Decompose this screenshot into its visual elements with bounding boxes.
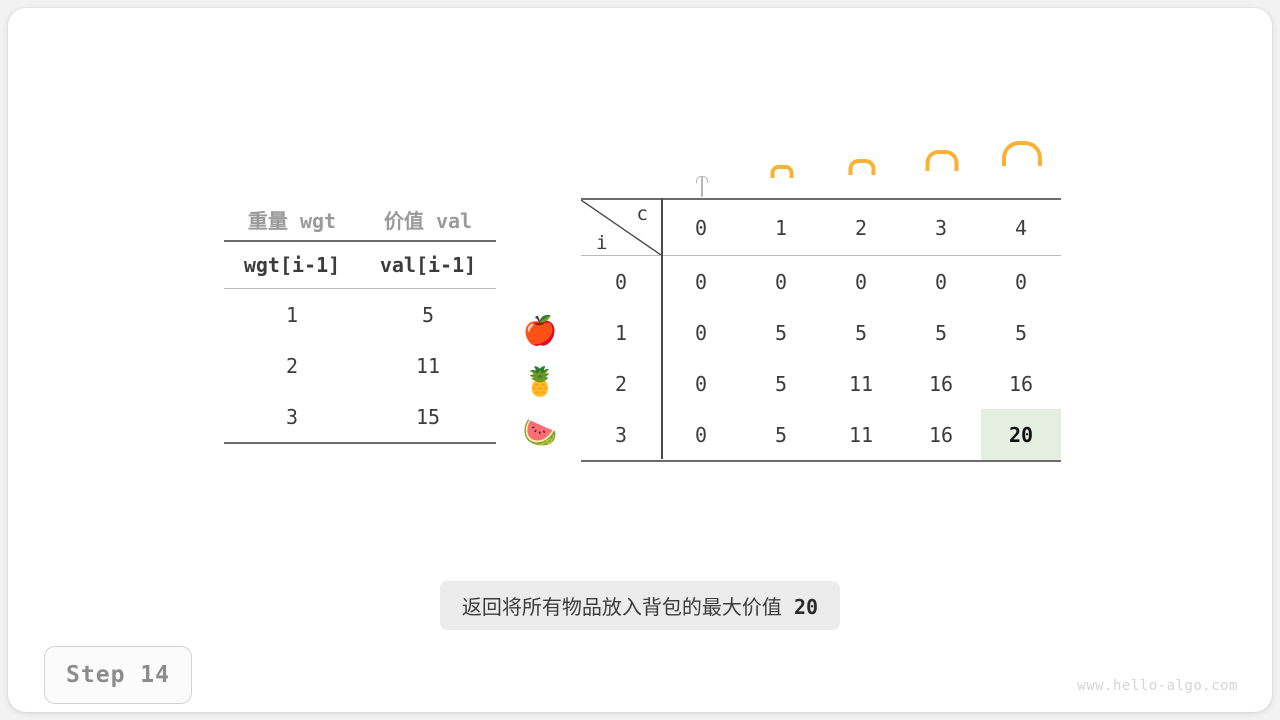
bag-capacity-icon-row: [662, 132, 1062, 196]
items-table-subheader-row: wgt[i-1] val[i-1]: [224, 242, 496, 288]
dp-cell: 0: [661, 358, 741, 409]
bag-icon-3-cell: [902, 177, 982, 196]
items-table-bottom-rule: [224, 442, 496, 444]
slide-card: 重量 wgt 价值 val wgt[i-1] val[i-1] 1 5 2 11…: [8, 8, 1272, 712]
table-row: 0 0 0 0 0 0: [581, 256, 1061, 307]
item-weight: 3: [224, 405, 360, 429]
dp-cell: 0: [821, 256, 901, 307]
apple-icon: 🍎: [516, 305, 564, 356]
item-value: 11: [360, 354, 496, 378]
dp-col-header: 4: [981, 200, 1061, 255]
item-icon-column: 🍎 🍍 🍉: [516, 305, 564, 458]
table-row: 2 0 5 11 16 16: [581, 358, 1061, 409]
items-subheader-val: val[i-1]: [360, 253, 496, 277]
dp-cell: 0: [661, 256, 741, 307]
items-header-weight: 重量 wgt: [224, 205, 360, 234]
table-row: 1 0 5 5 5 5: [581, 307, 1061, 358]
dp-cell: 0: [661, 409, 741, 460]
diagonal-line-icon: [581, 200, 661, 255]
dp-row-header: 3: [581, 423, 661, 447]
dp-row-header: 0: [581, 270, 661, 294]
table-row: 1 5: [224, 289, 496, 340]
dp-cell: 0: [981, 256, 1061, 307]
item-value: 5: [360, 303, 496, 327]
dp-cell: 0: [741, 256, 821, 307]
status-badge: Step 14: [44, 646, 192, 704]
dp-table-bottom-rule: [581, 460, 1061, 462]
dp-table-corner-cell: c i: [581, 200, 661, 255]
watermark: www.hello-algo.com: [1077, 678, 1238, 694]
caption-value: 20: [794, 595, 818, 619]
step-label: Step 14: [66, 662, 170, 688]
bag-icon-empty-cell: [662, 177, 742, 196]
item-weight: 1: [224, 303, 360, 327]
pineapple-icon: 🍍: [516, 356, 564, 407]
dp-col-header: 1: [741, 200, 821, 255]
dp-col-header: 3: [901, 200, 981, 255]
caption-text: 返回将所有物品放入背包的最大价值: [462, 595, 782, 619]
dp-cell: 5: [741, 307, 821, 358]
dp-table: c i 0 1 2 3 4 0 0 0 0 0 0 1 0 5 5 5 5 2: [581, 198, 1061, 462]
dp-cell: 11: [821, 409, 901, 460]
items-table: 重量 wgt 价值 val wgt[i-1] val[i-1] 1 5 2 11…: [224, 198, 496, 444]
dp-col-axis-label: c: [637, 203, 648, 225]
dp-table-header-row: c i 0 1 2 3 4: [581, 200, 1061, 255]
item-weight: 2: [224, 354, 360, 378]
dp-cell: 16: [981, 358, 1061, 409]
items-header-value: 价值 val: [360, 205, 496, 234]
dp-row-axis-label: i: [596, 232, 607, 254]
dp-cell: 11: [821, 358, 901, 409]
bag-icon-empty: [693, 177, 711, 196]
dp-cell: 5: [741, 409, 821, 460]
dp-cell: 16: [901, 409, 981, 460]
dp-cell: 16: [901, 358, 981, 409]
table-row: 3 0 5 11 16 20: [581, 409, 1061, 460]
dp-cell: 5: [821, 307, 901, 358]
dp-row-header: 2: [581, 372, 661, 396]
watermelon-icon: 🍉: [516, 407, 564, 458]
dp-cell: 0: [661, 307, 741, 358]
dp-cell-highlighted: 20: [981, 409, 1061, 460]
bag-icon-2-cell: [822, 177, 902, 196]
dp-col-header: 0: [661, 200, 741, 255]
caption-pill: 返回将所有物品放入背包的最大价值 20: [440, 581, 840, 630]
dp-cell: 5: [741, 358, 821, 409]
items-subheader-wgt: wgt[i-1]: [224, 253, 360, 277]
item-value: 15: [360, 405, 496, 429]
dp-cell: 5: [981, 307, 1061, 358]
bag-icon-1-cell: [742, 177, 822, 196]
bag-icon-4-cell: [982, 177, 1062, 196]
dp-cell: 0: [901, 256, 981, 307]
dp-cell: 5: [901, 307, 981, 358]
table-row: 2 11: [224, 340, 496, 391]
dp-row-header: 1: [581, 321, 661, 345]
table-row: 3 15: [224, 391, 496, 442]
dp-col-header: 2: [821, 200, 901, 255]
items-table-header-row: 重量 wgt 价值 val: [224, 198, 496, 240]
